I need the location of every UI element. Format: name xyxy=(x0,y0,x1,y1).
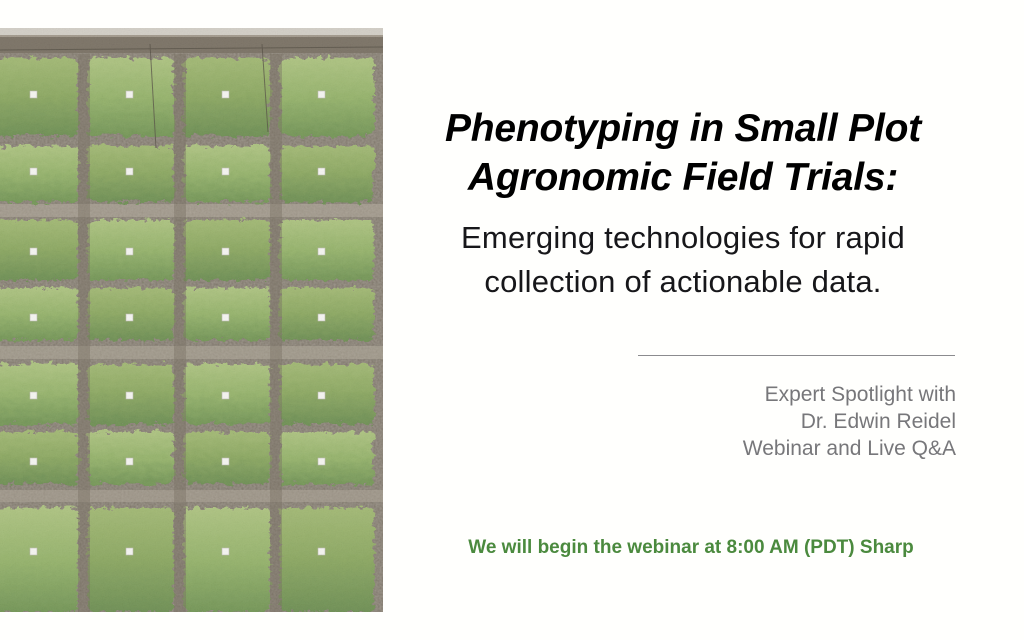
presenter-line-event: Expert Spotlight with xyxy=(400,381,956,408)
subtitle-line-1: Emerging technologies for rapid xyxy=(400,216,966,260)
presenter-line-name: Dr. Edwin Reidel xyxy=(400,408,956,435)
section-divider xyxy=(638,355,955,356)
field-photo-graphic xyxy=(0,28,383,612)
presenter-line-format: Webinar and Live Q&A xyxy=(400,435,956,462)
slide-content-column: Phenotyping in Small Plot Agronomic Fiel… xyxy=(400,0,1024,640)
presenter-info: Expert Spotlight with Dr. Edwin Reidel W… xyxy=(400,381,956,462)
title-line-1: Phenotyping in Small Plot xyxy=(400,104,966,153)
start-time-notice: We will begin the webinar at 8:00 AM (PD… xyxy=(400,535,982,561)
page-subtitle: Emerging technologies for rapid collecti… xyxy=(400,216,966,304)
webinar-title-slide: Phenotyping in Small Plot Agronomic Fiel… xyxy=(0,0,1024,640)
start-time-notice-text: We will begin the webinar at 8:00 AM (PD… xyxy=(400,535,982,561)
aerial-field-trial-photo xyxy=(0,28,383,612)
subtitle-line-2: collection of actionable data. xyxy=(400,260,966,304)
page-title: Phenotyping in Small Plot Agronomic Fiel… xyxy=(400,104,966,202)
title-line-2: Agronomic Field Trials: xyxy=(400,153,966,202)
